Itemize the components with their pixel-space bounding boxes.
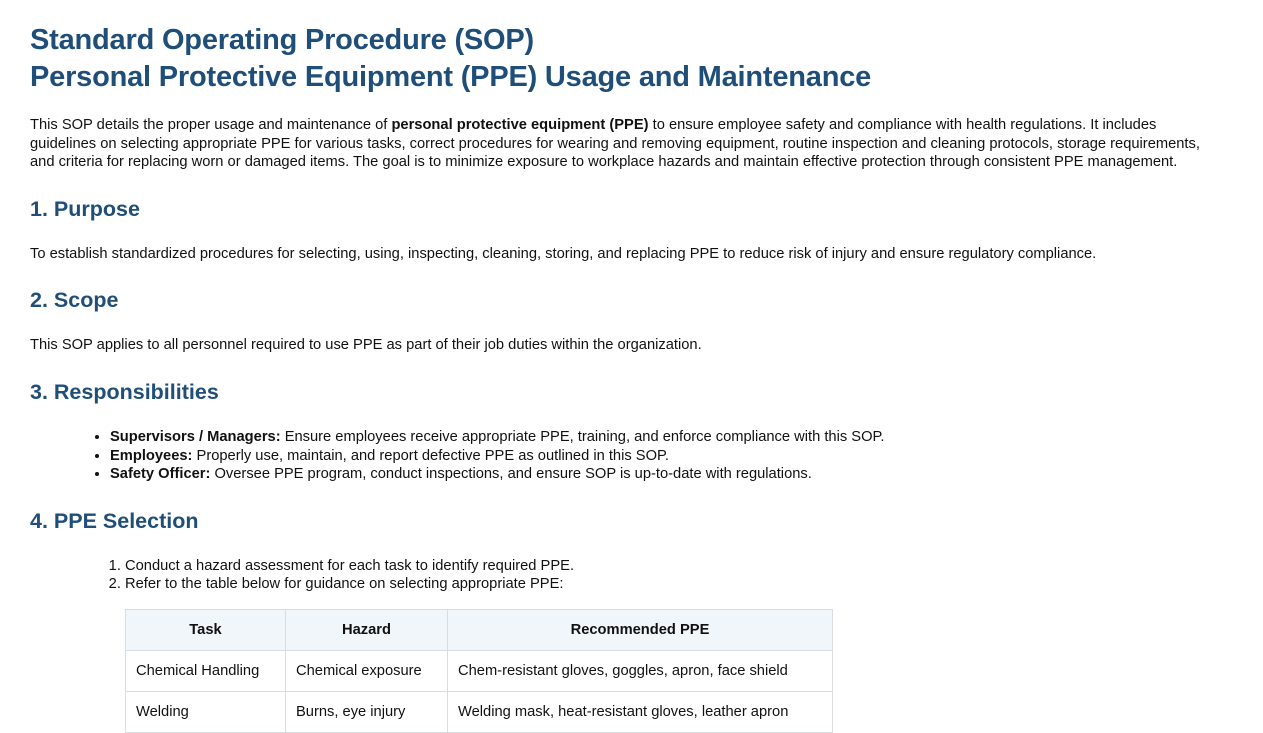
table-row: Chemical Handling Chemical exposure Chem…	[126, 650, 833, 691]
column-header-hazard: Hazard	[286, 609, 448, 650]
page-title: Standard Operating Procedure (SOP) Perso…	[30, 22, 1233, 96]
section-heading-ppe-selection: 4. PPE Selection	[30, 508, 1233, 534]
purpose-body: To establish standardized procedures for…	[30, 245, 1233, 264]
section-heading-scope: 2. Scope	[30, 287, 1233, 313]
responsibilities-list: Supervisors / Managers: Ensure employees…	[30, 428, 1233, 484]
list-item: Employees: Properly use, maintain, and r…	[110, 447, 1233, 466]
document-page: Standard Operating Procedure (SOP) Perso…	[0, 0, 1263, 733]
list-item: Refer to the table below for guidance on…	[125, 575, 1233, 594]
list-item: Conduct a hazard assessment for each tas…	[125, 557, 1233, 576]
section-heading-purpose: 1. Purpose	[30, 196, 1233, 222]
table-row: Welding Burns, eye injury Welding mask, …	[126, 691, 833, 732]
list-item: Supervisors / Managers: Ensure employees…	[110, 428, 1233, 447]
responsibility-role-label: Employees:	[110, 448, 192, 464]
ppe-selection-table: Task Hazard Recommended PPE Chemical Han…	[125, 609, 833, 733]
table-body: Chemical Handling Chemical exposure Chem…	[126, 650, 833, 732]
column-header-task: Task	[126, 609, 286, 650]
cell-recommended-ppe: Chem-resistant gloves, goggles, apron, f…	[448, 650, 833, 691]
responsibility-role-label: Supervisors / Managers:	[110, 429, 281, 445]
table-header-row: Task Hazard Recommended PPE	[126, 609, 833, 650]
intro-paragraph: This SOP details the proper usage and ma…	[30, 116, 1226, 172]
cell-recommended-ppe: Welding mask, heat-resistant gloves, lea…	[448, 691, 833, 732]
cell-hazard: Burns, eye injury	[286, 691, 448, 732]
intro-bold-term: personal protective equipment (PPE)	[391, 117, 648, 133]
list-item: Safety Officer: Oversee PPE program, con…	[110, 465, 1233, 484]
responsibility-description: Oversee PPE program, conduct inspections…	[210, 466, 811, 482]
section-heading-responsibilities: 3. Responsibilities	[30, 379, 1233, 405]
responsibility-description: Ensure employees receive appropriate PPE…	[281, 429, 885, 445]
responsibility-role-label: Safety Officer:	[110, 466, 210, 482]
page-title-line-2: Personal Protective Equipment (PPE) Usag…	[30, 59, 1233, 96]
ppe-table-container: Task Hazard Recommended PPE Chemical Han…	[30, 609, 1233, 733]
column-header-recommended-ppe: Recommended PPE	[448, 609, 833, 650]
cell-task: Chemical Handling	[126, 650, 286, 691]
table-head: Task Hazard Recommended PPE	[126, 609, 833, 650]
scope-body: This SOP applies to all personnel requir…	[30, 336, 1233, 355]
ppe-selection-steps: Conduct a hazard assessment for each tas…	[30, 557, 1233, 594]
cell-task: Welding	[126, 691, 286, 732]
page-title-line-1: Standard Operating Procedure (SOP)	[30, 22, 1233, 59]
intro-text-part-1: This SOP details the proper usage and ma…	[30, 117, 391, 133]
cell-hazard: Chemical exposure	[286, 650, 448, 691]
responsibility-description: Properly use, maintain, and report defec…	[192, 448, 669, 464]
